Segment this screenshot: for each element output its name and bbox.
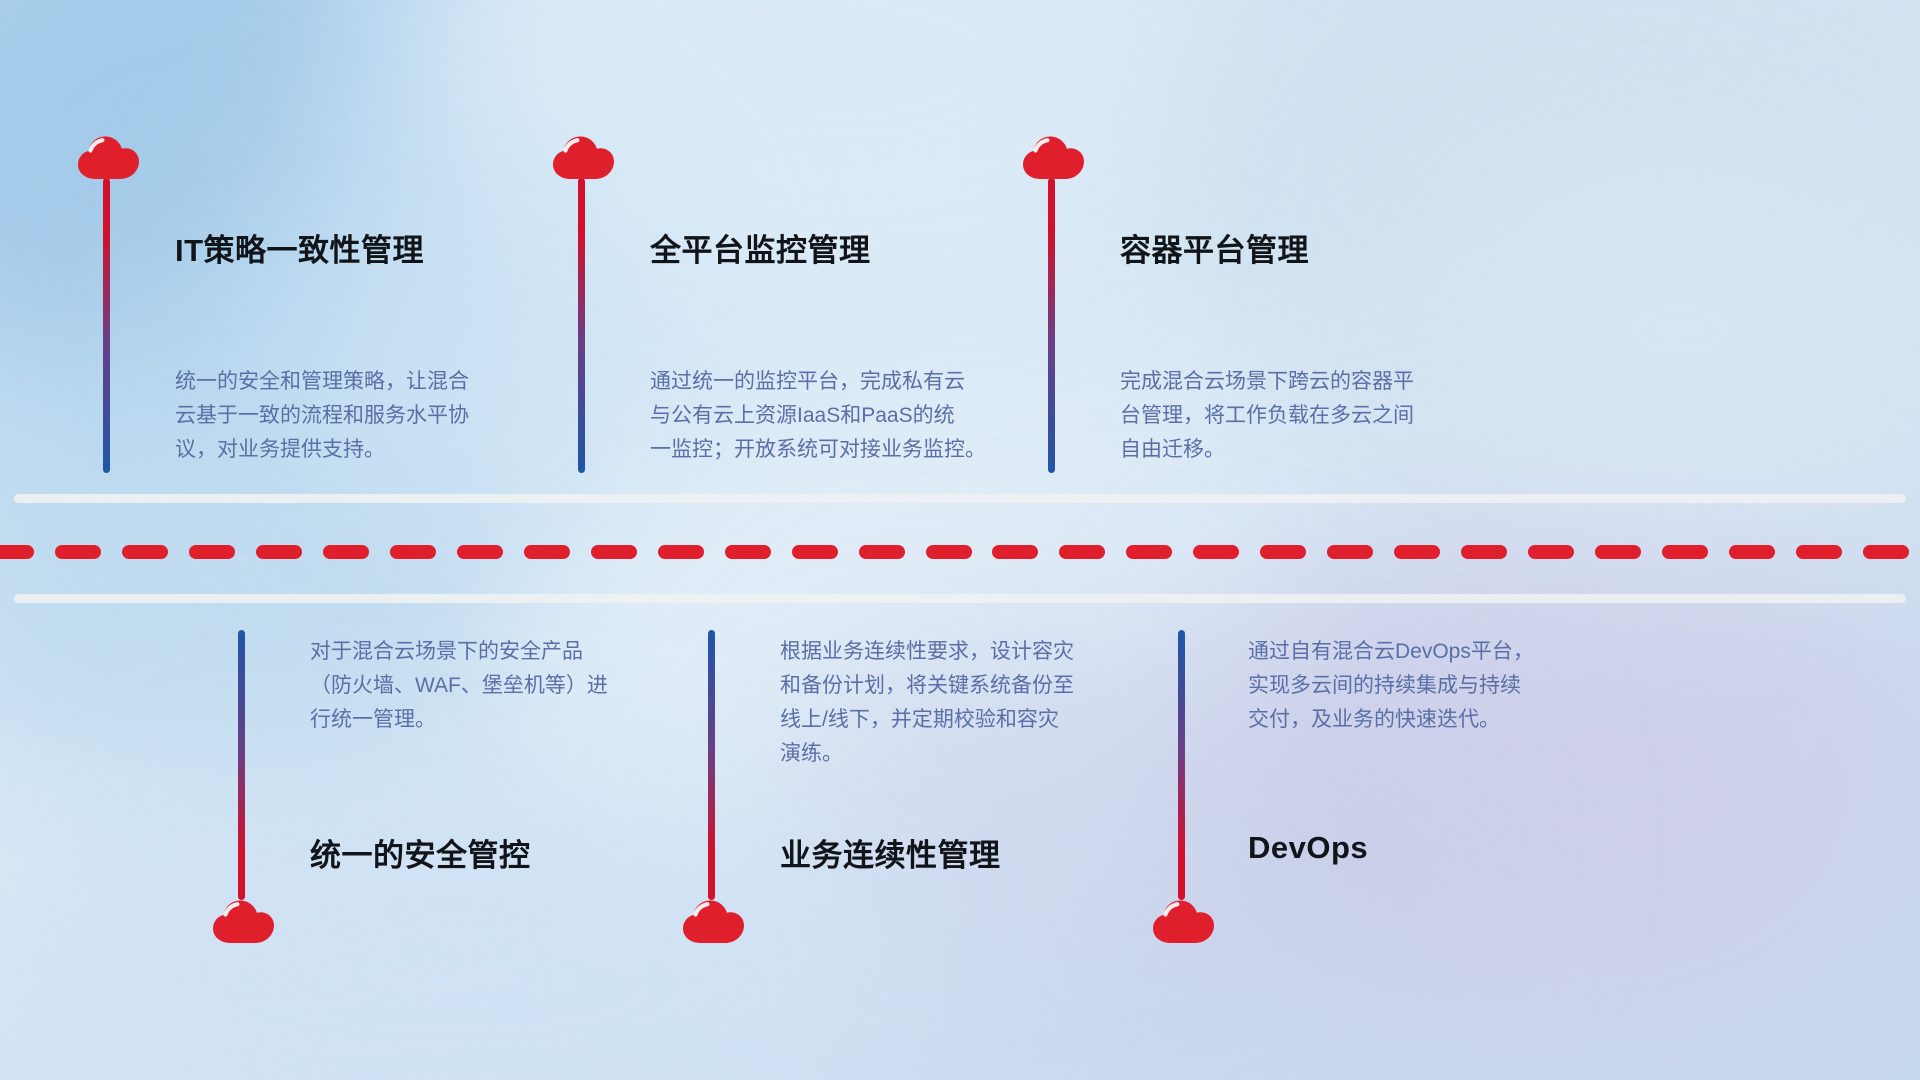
divider-dash [1059,545,1105,559]
divider-dash [725,545,771,559]
item-title: 统一的安全管控 [310,830,531,875]
divider-rail-top [14,494,1906,503]
divider-dash [859,545,905,559]
item-description: 通过统一的监控平台，完成私有云 与公有云上资源IaaS和PaaS的统 一监控；开… [650,365,1090,467]
item-description: 根据业务连续性要求，设计容灾 和备份计划，将关键系统备份至 线上/线下，并定期校… [780,635,1210,771]
item-title: 容器平台管理 [1120,225,1309,270]
divider-dash [1260,545,1306,559]
divider-dash [1461,545,1507,559]
cloud-icon [680,898,744,944]
pin-line [103,178,110,473]
divider-dash [457,545,503,559]
item-description: 统一的安全和管理策略，让混合 云基于一致的流程和服务水平协 议，对业务提供支持。 [175,365,605,467]
pin-line [238,630,245,900]
infographic-canvas: IT策略一致性管理统一的安全和管理策略，让混合 云基于一致的流程和服务水平协 议… [0,0,1920,1080]
item-description: 通过自有混合云DevOps平台， 实现多云间的持续集成与持续 交付，及业务的快速… [1248,635,1678,737]
cloud-icon [210,898,274,944]
divider-dash [189,545,235,559]
divider-dashed-line [0,545,1920,559]
item-title: DevOps [1248,830,1368,866]
item-title: 业务连续性管理 [780,830,1001,875]
pin-line [708,630,715,900]
divider-dash [1126,545,1172,559]
divider-dash [1394,545,1440,559]
divider-dash [390,545,436,559]
divider-dash [1796,545,1842,559]
divider-dash [1327,545,1373,559]
pin-line [578,178,585,473]
divider-dash [323,545,369,559]
divider-dash [792,545,838,559]
cloud-icon [1020,134,1084,180]
item-title: 全平台监控管理 [650,225,871,270]
divider-dash [658,545,704,559]
cloud-icon [1150,898,1214,944]
divider-dash [1528,545,1574,559]
divider-dash [55,545,101,559]
divider-dash [524,545,570,559]
divider-dash [256,545,302,559]
divider-dash [926,545,972,559]
divider-dash [1729,545,1775,559]
item-description: 对于混合云场景下的安全产品 （防火墙、WAF、堡垒机等）进 行统一管理。 [310,635,740,737]
divider-dash [1863,545,1909,559]
divider-dash [1193,545,1239,559]
item-title: IT策略一致性管理 [175,225,424,270]
divider-dash [0,545,34,559]
divider-rail-bottom [14,594,1906,603]
cloud-icon [75,134,139,180]
pin-line [1048,178,1055,473]
divider-dash [1662,545,1708,559]
cloud-icon [550,134,614,180]
pin-line [1178,630,1185,900]
divider-dash [122,545,168,559]
divider-dash [1595,545,1641,559]
item-description: 完成混合云场景下跨云的容器平 台管理，将工作负载在多云之间 自由迁移。 [1120,365,1560,467]
divider-dash [591,545,637,559]
divider-dash [992,545,1038,559]
